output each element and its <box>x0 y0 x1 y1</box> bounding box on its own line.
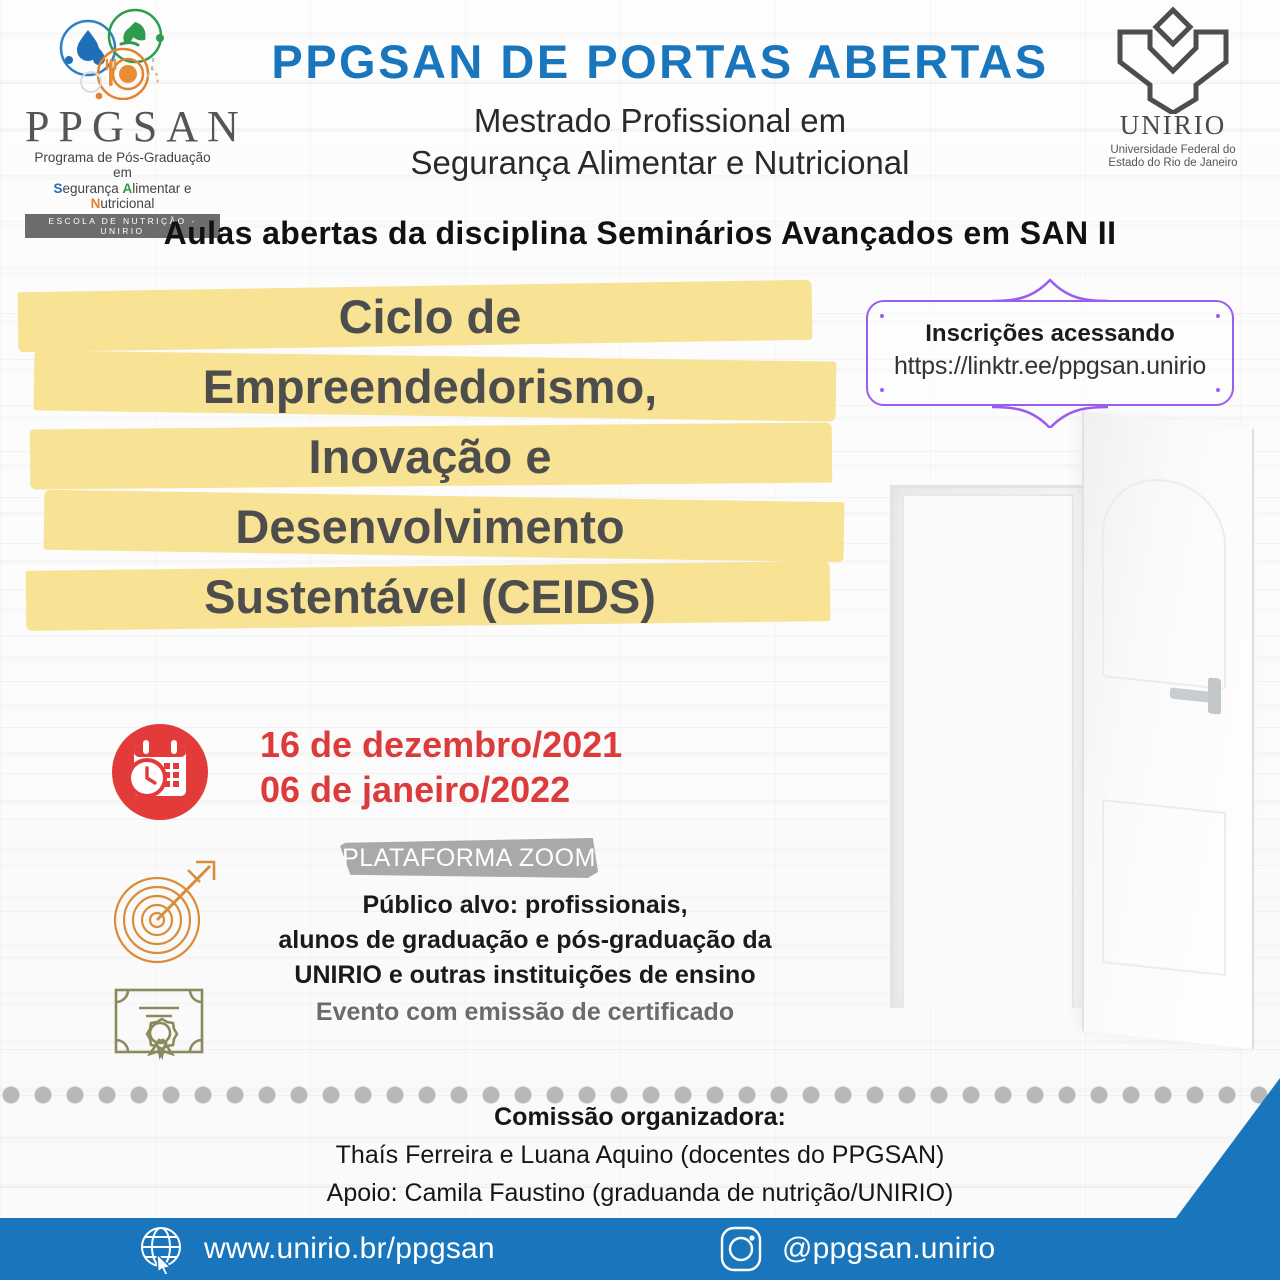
ppgsan-logo-line1: Programa de Pós-Graduação em <box>25 150 220 180</box>
event-title-line: Inovação e <box>10 422 850 492</box>
event-title-line-5: Sustentável (CEIDS) <box>10 562 850 632</box>
event-title-line: Ciclo de <box>10 282 850 352</box>
audience-line2: alunos de graduação e pós-graduação da <box>215 923 835 958</box>
callout-bracket-bottom <box>990 406 1110 428</box>
event-title-line: Desenvolvimento <box>10 492 850 562</box>
poster-root: PPGSAN Programa de Pós-Graduação em Segu… <box>0 0 1280 1280</box>
registration-link[interactable]: https://linktr.ee/ppgsan.unirio <box>868 352 1232 381</box>
ppgsan-logo-line2: Segurança Alimentar e Nutricional <box>25 181 220 211</box>
target-arrow-icon <box>104 858 222 970</box>
event-date-line1: 16 de dezembro/2021 <box>260 722 622 767</box>
callout-dot <box>880 388 884 392</box>
page-subtitle-line1: Mestrado Profissional em <box>240 100 1080 142</box>
callout-dot <box>1216 388 1220 392</box>
door-latch-plate <box>1208 677 1221 714</box>
footer-website-text: www.unirio.br/ppgsan <box>204 1232 495 1266</box>
door-frame-inner <box>902 494 1074 1008</box>
unirio-sub-line1: Universidade Federal do <box>1088 144 1258 157</box>
event-title-line-1: Ciclo de <box>10 282 850 352</box>
footer-instagram[interactable]: @ppgsan.unirio <box>718 1218 995 1280</box>
event-date-text: 16 de dezembro/2021 06 de janeiro/2022 <box>260 722 622 812</box>
event-title-line-4: Desenvolvimento <box>10 492 850 562</box>
page-subtitle-line2: Segurança Alimentar e Nutricional <box>240 142 1080 184</box>
certificate-text: Evento com emissão de certificado <box>215 998 835 1027</box>
instagram-icon <box>718 1224 764 1274</box>
event-title-line-2: Empreendedorismo, <box>10 352 850 422</box>
ppgsan-logo-graphic <box>25 8 220 100</box>
unirio-sub-line2: Estado do Rio de Janeiro <box>1088 157 1258 170</box>
calendar-clock-icon <box>110 722 210 822</box>
event-title-line-3: Inovação e <box>10 422 850 492</box>
registration-label: Inscrições acessando <box>868 320 1232 348</box>
event-title-block: Ciclo de Empreendedorismo, Inovação e De… <box>10 282 850 632</box>
ppgsan-wordmark: PPGSAN <box>25 101 220 152</box>
platform-label: PLATAFORMA ZOOM <box>340 838 598 878</box>
door-panel <box>1082 411 1254 1049</box>
unirio-logo-icon <box>1108 6 1238 114</box>
callout-dot <box>1216 314 1220 318</box>
event-title-line: Empreendedorismo, <box>10 352 850 422</box>
open-door-image <box>850 420 1280 1110</box>
event-date-line2: 06 de janeiro/2022 <box>260 767 622 812</box>
committee-line1: Thaís Ferreira e Luana Aquino (docentes … <box>0 1141 1280 1170</box>
discipline-banner: Aulas abertas da disciplina Seminários A… <box>0 215 1280 252</box>
footer-bar: www.unirio.br/ppgsan @ppgsan.unirio <box>0 1218 1280 1280</box>
audience-line3: UNIRIO e outras instituições de ensino <box>215 958 835 993</box>
audience-line1: Público alvo: profissionais, <box>215 888 835 923</box>
event-title-line: Sustentável (CEIDS) <box>10 562 850 632</box>
committee-line2: Apoio: Camila Faustino (graduanda de nut… <box>0 1179 1280 1208</box>
unirio-logo: UNIRIO Universidade Federal do Estado do… <box>1088 6 1258 186</box>
ppgsan-logo: PPGSAN Programa de Pós-Graduação em Segu… <box>25 8 220 193</box>
globe-cursor-icon <box>140 1224 186 1274</box>
unirio-wordmark: UNIRIO <box>1088 110 1258 141</box>
audience-text: Público alvo: profissionais, alunos de g… <box>215 888 835 993</box>
callout-dot <box>880 314 884 318</box>
page-title: PPGSAN DE PORTAS ABERTAS <box>240 34 1080 89</box>
event-dates: 16 de dezembro/2021 06 de janeiro/2022 <box>110 718 750 828</box>
certificate-icon <box>106 980 216 1080</box>
platform-ribbon: PLATAFORMA ZOOM <box>340 838 598 878</box>
organizing-committee: Comissão organizadora: Thaís Ferreira e … <box>0 1103 1280 1208</box>
registration-callout[interactable]: Inscrições acessando https://linktr.ee/p… <box>866 300 1234 406</box>
page-subtitle: Mestrado Profissional em Segurança Alime… <box>240 100 1080 184</box>
committee-title: Comissão organizadora: <box>0 1103 1280 1132</box>
footer-instagram-text: @ppgsan.unirio <box>782 1232 995 1266</box>
footer-website[interactable]: www.unirio.br/ppgsan <box>140 1218 495 1280</box>
header: PPGSAN Programa de Pós-Graduação em Segu… <box>0 0 1280 200</box>
callout-bracket-top <box>990 278 1110 300</box>
